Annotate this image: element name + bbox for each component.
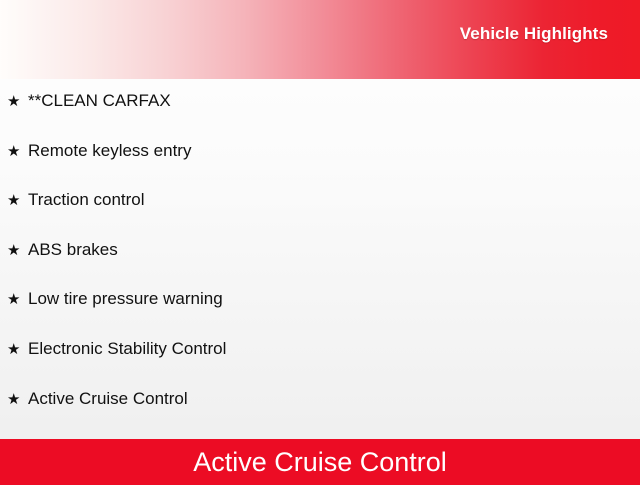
list-item: ★ **CLEAN CARFAX	[0, 92, 640, 142]
star-icon: ★	[7, 94, 28, 109]
list-item: ★ Low tire pressure warning	[0, 290, 640, 340]
footer-banner: Active Cruise Control	[0, 439, 640, 485]
list-item: ★ ABS brakes	[0, 241, 640, 291]
list-item: ★ Remote keyless entry	[0, 142, 640, 192]
list-item: ★ Electronic Stability Control	[0, 340, 640, 390]
star-icon: ★	[7, 292, 28, 307]
star-icon: ★	[7, 243, 28, 258]
list-item-label: Remote keyless entry	[28, 142, 640, 159]
list-item-label: Active Cruise Control	[28, 390, 640, 407]
footer-title: Active Cruise Control	[193, 449, 447, 476]
star-icon: ★	[7, 144, 28, 159]
list-item-label: **CLEAN CARFAX	[28, 92, 640, 109]
list-item-label: Electronic Stability Control	[28, 340, 640, 357]
list-item-label: Traction control	[28, 191, 640, 208]
list-item: ★ Traction control	[0, 191, 640, 241]
star-icon: ★	[7, 342, 28, 357]
list-item-label: Low tire pressure warning	[28, 290, 640, 307]
vehicle-highlights-panel: Vehicle Highlights ★ **CLEAN CARFAX ★ Re…	[0, 0, 640, 480]
header-banner: Vehicle Highlights	[0, 0, 640, 79]
list-item: ★ Active Cruise Control	[0, 390, 640, 440]
star-icon: ★	[7, 193, 28, 208]
vehicle-highlights-list: ★ **CLEAN CARFAX ★ Remote keyless entry …	[0, 79, 640, 439]
page-title: Vehicle Highlights	[460, 24, 608, 44]
list-item-label: ABS brakes	[28, 241, 640, 258]
star-icon: ★	[7, 392, 28, 407]
